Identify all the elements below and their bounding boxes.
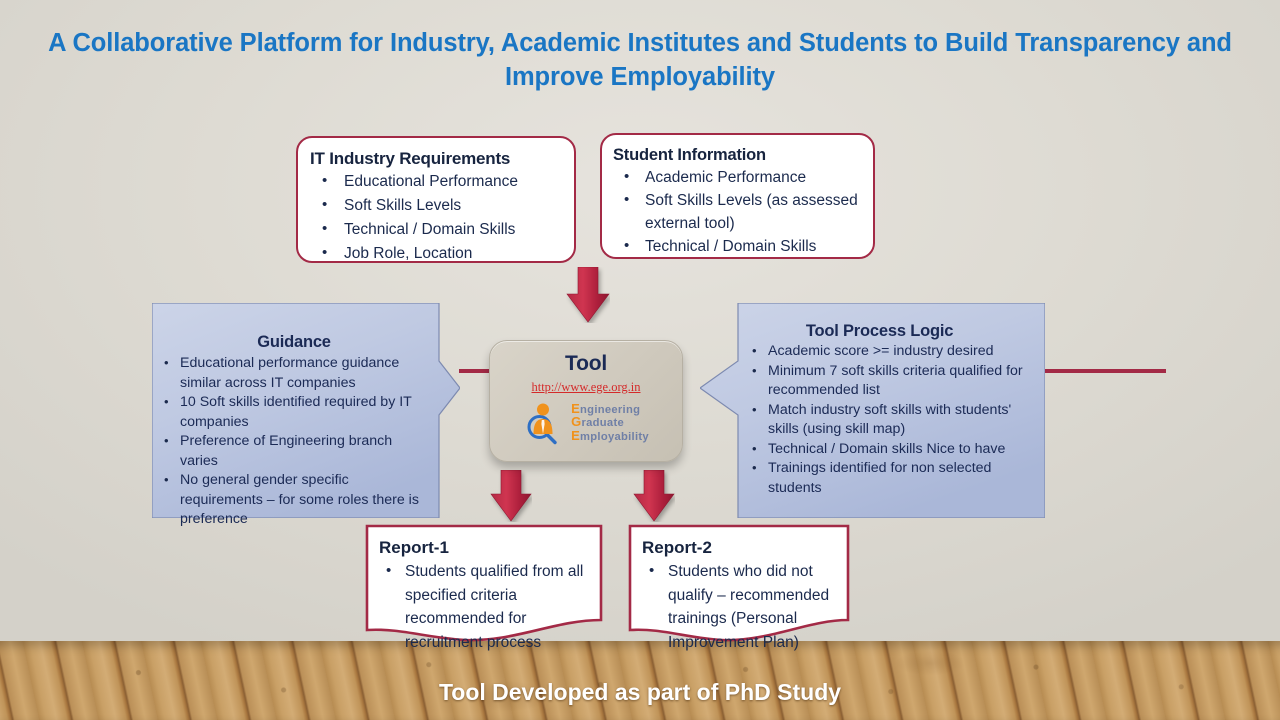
list-item: Academic Performance (613, 166, 865, 189)
ege-logo-line-rest: mployability (580, 431, 649, 443)
list-item: Soft Skills Levels (as assessed external… (613, 189, 865, 235)
ege-logo-line: Graduate (571, 416, 649, 430)
ege-logo-line-rest: raduate (581, 417, 624, 429)
list-item: Educational Performance (310, 170, 566, 194)
report2-content: Report-2 Students who did not qualify – … (628, 524, 850, 654)
tool-process-logic-title: Tool Process Logic (722, 322, 1037, 341)
ege-logo-line: Engineering (571, 403, 649, 417)
student-information-list: Academic Performance Soft Skills Levels … (613, 166, 865, 258)
slide-canvas: A Collaborative Platform for Industry, A… (0, 0, 1280, 720)
arrow-down-to-report1-icon (490, 470, 532, 522)
ege-logo-person-magnifier-icon (523, 401, 567, 445)
report1-title: Report-1 (379, 536, 593, 560)
tool-process-logic-list: Academic score >= industry desired Minim… (746, 342, 1037, 498)
guidance-panel: Guidance Educational performance guidanc… (152, 303, 460, 518)
guidance-title: Guidance (158, 333, 430, 352)
guidance-panel-content: Guidance Educational performance guidanc… (152, 303, 442, 530)
student-information-card: Student Information Academic Performance… (600, 133, 875, 259)
it-industry-requirements-list: Educational Performance Soft Skills Leve… (310, 170, 566, 266)
connector-line-right (1045, 369, 1166, 373)
report1-card: Report-1 Students qualified from all spe… (365, 524, 603, 642)
report1-content: Report-1 Students qualified from all spe… (365, 524, 603, 654)
ege-logo-line: Employability (571, 430, 649, 444)
guidance-list: Educational performance guidance similar… (158, 354, 430, 530)
report2-card: Report-2 Students who did not qualify – … (628, 524, 850, 642)
list-item: Students who did not qualify – recommend… (642, 560, 840, 654)
ege-logo-line-rest: ngineering (580, 404, 640, 416)
list-item: Trainings identified for non selected st… (746, 459, 1037, 498)
list-item: Educational performance guidance similar… (158, 354, 430, 393)
tool-process-logic-content: Tool Process Logic Academic score >= ind… (700, 303, 1045, 498)
list-item: Job Role, Location (310, 242, 566, 266)
list-item: Technical / Domain skills Nice to have (746, 440, 1037, 460)
tool-title: Tool (490, 352, 682, 376)
list-item: Technical / Domain Skills (310, 218, 566, 242)
arrow-down-to-report2-icon (633, 470, 675, 522)
ege-logo-line-cap: E (571, 428, 580, 443)
it-industry-requirements-card: IT Industry Requirements Educational Per… (296, 136, 576, 263)
it-industry-requirements-title: IT Industry Requirements (310, 148, 566, 170)
list-item: No general gender specific requirements … (158, 471, 430, 530)
list-item: Match industry soft skills with students… (746, 401, 1037, 440)
student-information-title: Student Information (613, 144, 865, 166)
list-item: Preference of Engineering branch varies (158, 432, 430, 471)
report2-list: Students who did not qualify – recommend… (642, 560, 840, 654)
list-item: Minimum 7 soft skills criteria qualified… (746, 362, 1037, 401)
tool-process-logic-panel: Tool Process Logic Academic score >= ind… (700, 303, 1045, 518)
list-item: Soft Skills Levels (310, 194, 566, 218)
ege-logo-wordmark: Engineering Graduate Employability (571, 403, 649, 444)
list-item: Technical / Domain Skills (613, 235, 865, 258)
connector-line-left (459, 369, 491, 373)
list-item: Academic score >= industry desired (746, 342, 1037, 362)
report1-list: Students qualified from all specified cr… (379, 560, 593, 654)
tool-url-link[interactable]: http://www.ege.org.in (490, 380, 682, 395)
arrow-down-to-tool-icon (566, 267, 610, 323)
footer-caption: Tool Developed as part of PhD Study (0, 679, 1280, 706)
ege-logo: Engineering Graduate Employability (490, 401, 682, 445)
list-item: 10 Soft skills identified required by IT… (158, 393, 430, 432)
tool-card: Tool http://www.ege.org.in Engineering G… (489, 340, 683, 462)
report2-title: Report-2 (642, 536, 840, 560)
page-title: A Collaborative Platform for Industry, A… (0, 26, 1280, 94)
list-item: Students qualified from all specified cr… (379, 560, 593, 654)
